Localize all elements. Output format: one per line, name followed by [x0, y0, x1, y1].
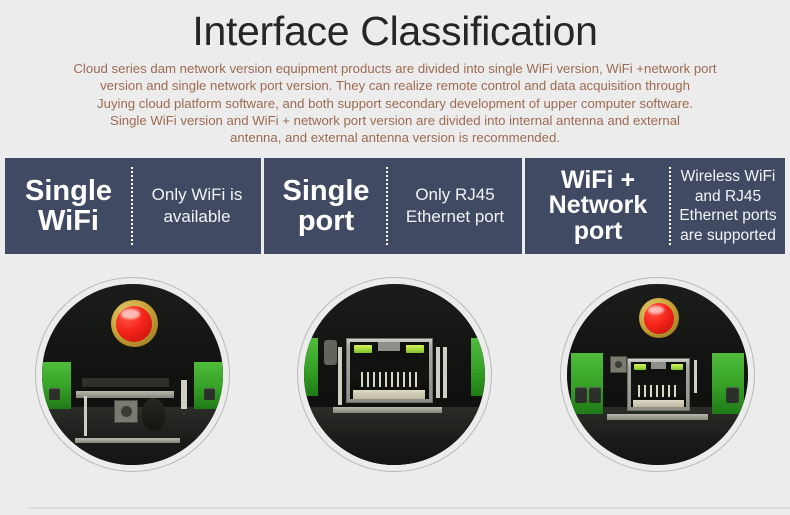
intro-line-4: Single WiFi version and WiFi + network p… [45, 112, 745, 129]
rj45-ethernet-jack-icon [627, 358, 690, 410]
banner-title-single-port: Single port [264, 176, 382, 236]
terminal-block-right [712, 353, 745, 415]
banner-title-line-2: port [270, 206, 382, 236]
banner-panel-single-port[interactable]: Single port Only RJ45 Ethernet port [264, 158, 522, 254]
banner-desc-line-1: Only RJ45 [394, 184, 516, 206]
banner-desc-line-4: are supported [675, 226, 781, 246]
terminal-block-left [571, 353, 604, 415]
single-wifi-board-photo [35, 277, 230, 472]
banner-desc-line-2: Ethernet port [394, 206, 516, 228]
electrolytic-capacitor-icon [142, 398, 166, 431]
intro-paragraph: Cloud series dam network version equipme… [45, 60, 745, 146]
intro-line-5: antenna, and external antenna version is… [45, 129, 745, 146]
pcb-rail [76, 391, 174, 398]
rj45-key [378, 342, 400, 351]
rj45-cavity [631, 362, 686, 406]
banner-desc-wifi-network-port: Wireless WiFi and RJ45 Ethernet ports ar… [671, 167, 785, 245]
terminal-block-left [42, 362, 71, 409]
rj45-base [633, 400, 684, 407]
single-port-board-photo [297, 277, 492, 472]
pcb-base-rail [333, 407, 442, 412]
photo-disc [304, 284, 485, 465]
banner-row: Single WiFi Only WiFi is available Singl… [5, 158, 785, 254]
pcb-base-rail [607, 414, 708, 419]
pcb-pin-right [181, 380, 186, 409]
rj45-led-right [671, 364, 683, 370]
tactile-switch-icon [114, 400, 138, 424]
banner-title-single-wifi: Single WiFi [5, 176, 126, 236]
rj45-pins [361, 372, 418, 387]
rj45-pins [638, 385, 678, 397]
photo-disc [567, 284, 748, 465]
banner-title-line-1: Single [270, 176, 382, 206]
pcb-base-rail [75, 438, 180, 443]
intro-line-2: version and single network port version.… [45, 77, 745, 94]
rj45-base [353, 390, 426, 399]
intro-line-3: Juying cloud platform software, and both… [45, 95, 745, 112]
banner-desc-single-port: Only RJ45 Ethernet port [388, 184, 522, 228]
banner-title-line-1: Single [11, 176, 126, 206]
pcb-pin-right-b [443, 347, 447, 398]
terminal-block-right [194, 362, 223, 409]
banner-panel-single-wifi[interactable]: Single WiFi Only WiFi is available [5, 158, 261, 254]
pcb-lower-deck [304, 407, 485, 465]
rj45-led-left [634, 364, 646, 370]
photo-row [0, 277, 790, 472]
antenna-cap [116, 306, 152, 342]
wifi-network-port-board-photo [560, 277, 755, 472]
banner-desc-line-2: and RJ45 [675, 187, 781, 207]
rj45-key [651, 362, 666, 369]
rj45-cavity [350, 342, 429, 399]
page-title: Interface Classification [0, 6, 790, 56]
pcb-pin-left [338, 347, 342, 405]
banner-title-wifi-network-port: WiFi + Network port [525, 168, 667, 245]
banner-title-line-3: port [529, 219, 667, 245]
antenna-connector-icon [111, 300, 158, 347]
rj45-ethernet-jack-icon [346, 338, 433, 403]
banner-title-line-2: WiFi [11, 206, 126, 236]
banner-desc-line-1: Wireless WiFi [675, 167, 781, 187]
pcb-pin-right-a [436, 347, 440, 398]
antenna-cap [644, 303, 674, 333]
bottom-divider [28, 507, 790, 509]
banner-title-line-2: Network [529, 193, 667, 219]
banner-title-line-1: WiFi + [529, 168, 667, 194]
rj45-led-right [406, 345, 423, 353]
pcb-green-edge-left [304, 338, 318, 396]
banner-desc-line-2: available [141, 206, 253, 228]
banner-desc-line-1: Only WiFi is [141, 184, 253, 206]
banner-desc-line-3: Ethernet ports [675, 206, 781, 226]
pcb-pin-left [84, 396, 88, 436]
banner-desc-single-wifi: Only WiFi is available [133, 184, 261, 228]
photo-disc [42, 284, 223, 465]
pcb-standoff [324, 340, 337, 365]
banner-panel-wifi-network-port[interactable]: WiFi + Network port Wireless WiFi and RJ… [525, 158, 785, 254]
intro-line-1: Cloud series dam network version equipme… [45, 60, 745, 77]
rj45-led-left [354, 345, 371, 353]
pcb-bar [82, 378, 169, 387]
pcb-green-edge-right [471, 338, 485, 396]
pcb-pin-right [694, 360, 698, 393]
tactile-switch-icon [610, 356, 626, 372]
